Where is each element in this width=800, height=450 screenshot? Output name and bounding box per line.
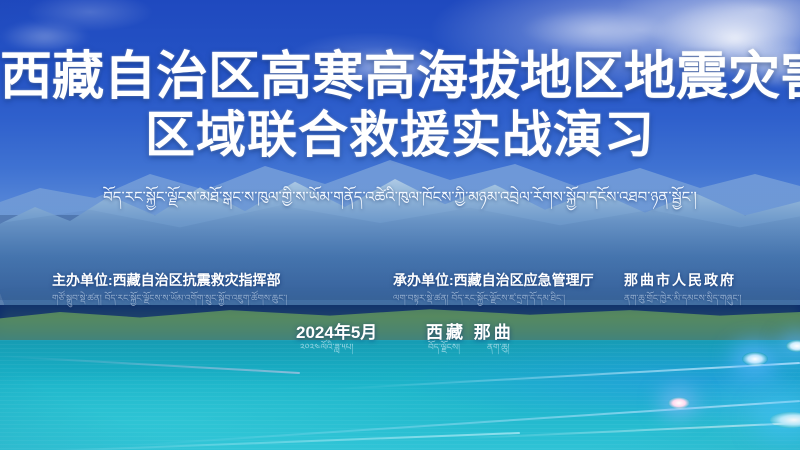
organizer-row: 主办单位:西藏自治区抗震救灾指挥部 གཙོ་སྒྲུབ་སྡེ་ཚན། བོད་…	[0, 270, 800, 310]
organizer-executor: 承办单位:西藏自治区应急管理厅	[393, 270, 594, 290]
location-region-tibetan: བོད་ལྗོངས།	[428, 338, 460, 363]
organizer-government: 那曲市人民政府	[624, 270, 736, 290]
event-date-tibetan: ༢༠༢༤ལོའི་ཟླ་༥པ།	[300, 338, 353, 363]
text-overlay: 西藏自治区高寒高海拔地区地震灾害 区域联合救援实战演习 བོད་རང་སྐྱོང…	[0, 0, 800, 450]
location-city-tibetan: ནག་ཆུ།	[487, 338, 510, 363]
tibetan-title: བོད་རང་སྐྱོང་ལྗོངས་མཐོ་སྒང་ས་ཁུལ་གྱི་ས་ཡ…	[0, 186, 800, 208]
event-backdrop-poster: 西藏自治区高寒高海拔地区地震灾害 区域联合救援实战演习 བོད་རང་སྐྱོང…	[0, 0, 800, 450]
title-line-2: 区域联合救援实战演习	[0, 106, 800, 164]
organizer-government-tibetan: ནག་ཆུ་གྲོང་ཁྱེར་མི་དམངས་སྲིད་གཞུང་།	[624, 289, 742, 314]
date-location-row: 2024年5月 ༢༠༢༤ལོའི་ཟླ་༥པ། 西藏 那曲 བོད་ལྗོངས།…	[0, 318, 800, 358]
poster-title: 西藏自治区高寒高海拔地区地震灾害 区域联合救援实战演习	[0, 48, 800, 164]
organizer-host: 主办单位:西藏自治区抗震救灾指挥部	[52, 270, 281, 290]
title-line-1: 西藏自治区高寒高海拔地区地震灾害	[0, 48, 800, 106]
organizer-executor-tibetan: ལག་བསྟར་སྡེ་ཚན། བོད་རང་སྐྱོང་ལྗོངས་ཛ་དྲག…	[393, 289, 565, 314]
organizer-host-tibetan: གཙོ་སྒྲུབ་སྡེ་ཚན། བོད་རང་སྐྱོང་ལྗོངས་ས་ཡ…	[52, 289, 287, 314]
